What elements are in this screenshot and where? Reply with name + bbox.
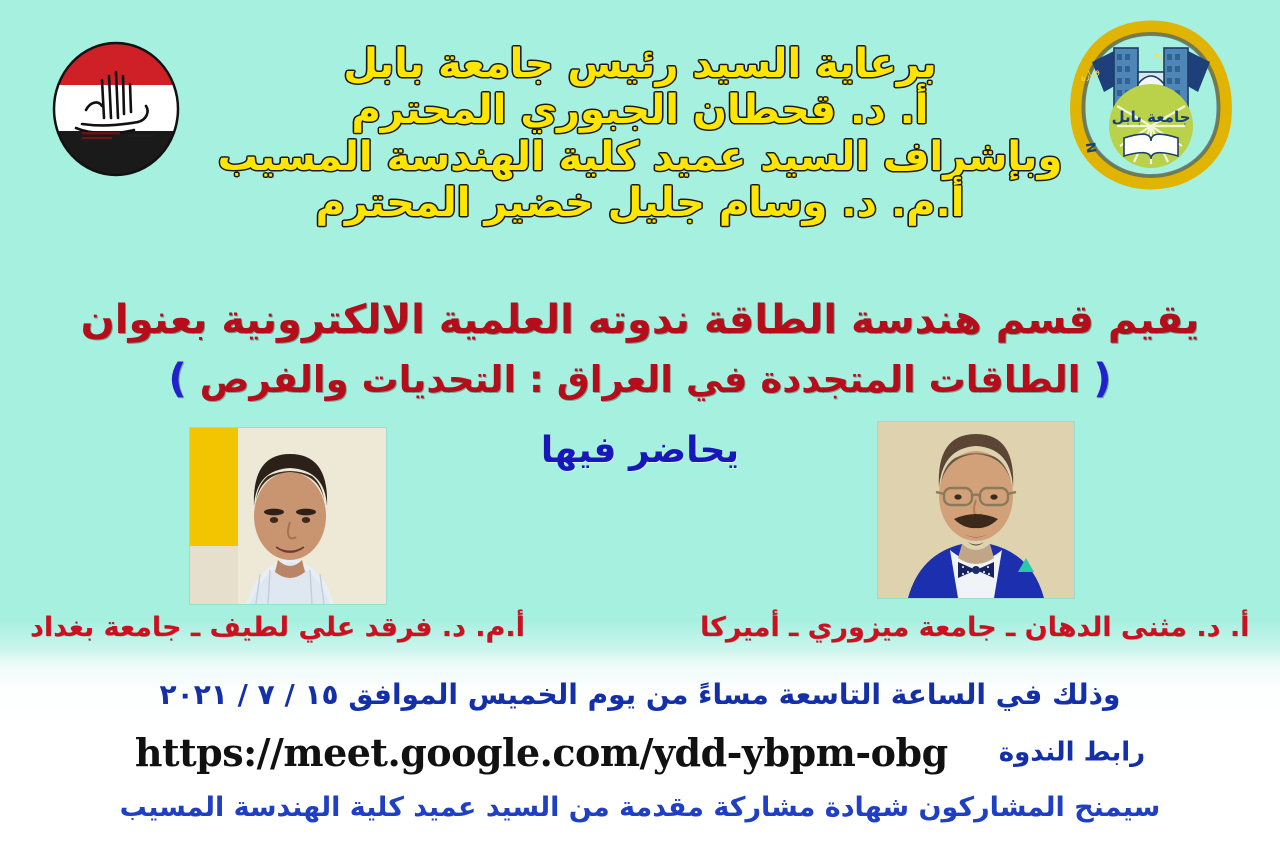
speaker-photo-left: [190, 428, 386, 604]
header-line-2: أ. د. قحطان الجبوري المحترم: [0, 90, 1280, 132]
seminar-link-url[interactable]: https://meet.google.com/ydd-ybpm-obg: [135, 730, 948, 775]
announcement-block: يقيم قسم هندسة الطاقة ندوته العلمية الال…: [0, 298, 1280, 402]
speaker-name-right: أ. د. مثنى الدهان ـ جامعة ميزوري ـ أميرك…: [700, 612, 1249, 643]
speaker-name-left: أ.م. د. فرقد علي لطيف ـ جامعة بغداد: [30, 612, 525, 643]
header-line-4: أ.م. د. وسام جليل خضير المحترم: [0, 183, 1280, 225]
certificate-line: سيمنح المشاركون شهادة مشاركة مقدمة من ال…: [0, 792, 1280, 823]
header-line-1: برعاية السيد رئيس جامعة بابل: [0, 44, 1280, 86]
title-open-paren: (: [1093, 356, 1111, 402]
patronage-header: برعاية السيد رئيس جامعة بابل أ. د. قحطان…: [0, 44, 1280, 224]
date-line: وذلك في الساعة التاسعة مساءً من يوم الخم…: [0, 678, 1280, 711]
seminar-link-label: رابط الندوة: [999, 738, 1145, 768]
speaker-photo-right: [878, 422, 1074, 598]
seminar-title-row: ( الطاقات المتجددة في العراق : التحديات …: [0, 356, 1280, 402]
announcement-line: يقيم قسم هندسة الطاقة ندوته العلمية الال…: [0, 298, 1280, 342]
seminar-link-row: رابط الندوة https://meet.google.com/ydd-…: [0, 730, 1280, 775]
header-line-3: وبإشراف السيد عميد كلية الهندسة المسيب: [0, 137, 1280, 179]
seminar-title: الطاقات المتجددة في العراق : التحديات وا…: [200, 358, 1081, 401]
seminar-poster: وزارة التعليم: [0, 0, 1280, 852]
title-close-paren: ): [168, 356, 186, 402]
